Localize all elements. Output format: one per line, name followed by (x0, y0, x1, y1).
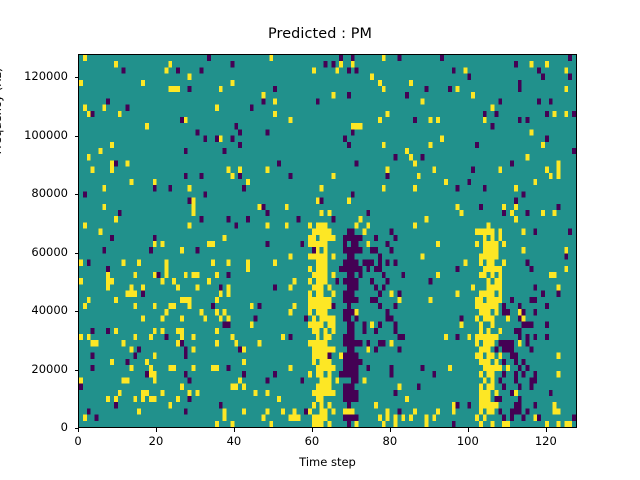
figure-canvas: Predicted : PM Frequency (Hz) 0204060801… (0, 0, 640, 480)
y-axis-label: Frequency (Hz) (0, 0, 4, 241)
x-tick-label: 100 (438, 434, 498, 448)
y-tick-mark (75, 253, 79, 254)
y-tick-label: 40000 (0, 303, 68, 317)
x-tick-label: 120 (516, 434, 576, 448)
x-tick-mark (468, 428, 469, 432)
x-tick-label: 0 (48, 434, 108, 448)
y-tick-label: 80000 (0, 186, 68, 200)
y-tick-mark (75, 77, 79, 78)
y-tick-mark (75, 370, 79, 371)
x-tick-label: 80 (360, 434, 420, 448)
y-tick-label: 0 (0, 420, 68, 434)
x-tick-mark (78, 428, 79, 432)
y-tick-mark (75, 311, 79, 312)
y-tick-label: 120000 (0, 69, 68, 83)
x-tick-mark (156, 428, 157, 432)
x-tick-label: 40 (204, 434, 264, 448)
heatmap-axes (78, 54, 577, 428)
x-tick-mark (390, 428, 391, 432)
y-tick-label: 100000 (0, 128, 68, 142)
x-tick-mark (234, 428, 235, 432)
x-tick-mark (546, 428, 547, 432)
x-axis-label: Time step (78, 455, 577, 469)
y-tick-mark (75, 428, 79, 429)
y-tick-mark (75, 136, 79, 137)
y-tick-label: 20000 (0, 362, 68, 376)
heatmap-image (79, 55, 576, 427)
y-tick-label: 60000 (0, 245, 68, 259)
y-tick-mark (75, 194, 79, 195)
chart-title: Predicted : PM (0, 26, 640, 42)
x-tick-label: 20 (126, 434, 186, 448)
x-tick-label: 60 (282, 434, 342, 448)
x-tick-mark (312, 428, 313, 432)
